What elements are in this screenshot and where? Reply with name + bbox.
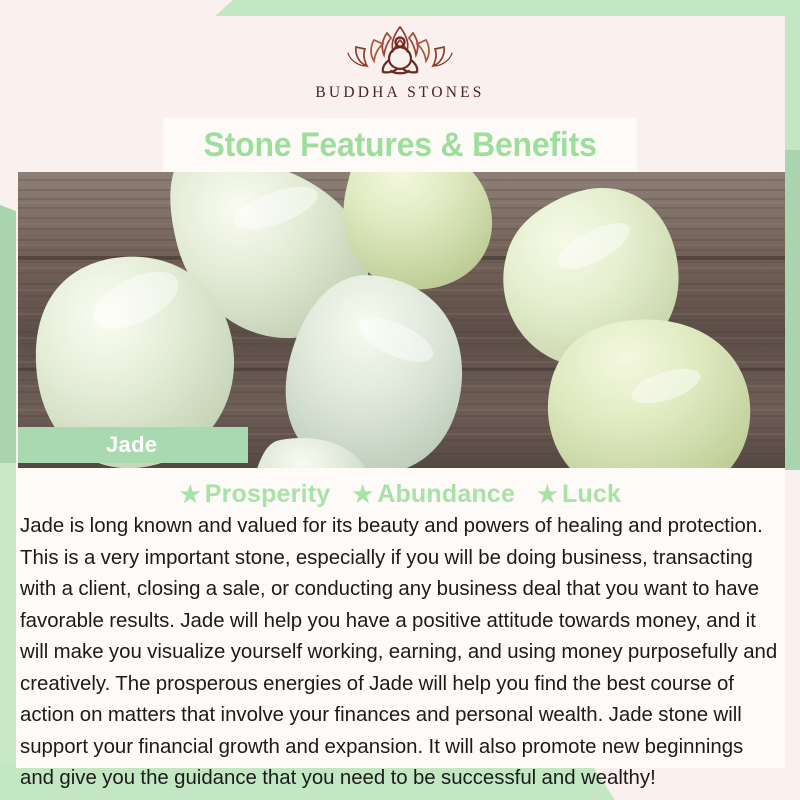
lotus-meditation-icon [341,22,459,80]
star-icon: ★ [537,481,558,507]
description-panel: ★Prosperity★Abundance★Luck Jade is long … [16,468,785,768]
star-icon: ★ [352,481,373,507]
jade-stones-photo [18,172,785,468]
description-text: Jade is long known and valued for its be… [16,509,785,795]
benefit-item: ★Luck [537,480,621,508]
decor-right-green-column-accent [785,150,800,470]
star-icon: ★ [180,481,201,507]
benefit-label: Abundance [377,480,515,508]
benefit-label: Prosperity [205,480,331,508]
decor-left-green-strip [0,463,16,773]
brand-wordmark: BUDDHA STONES [315,84,484,102]
infographic-card: BUDDHA STONES Stone Features & Benefits [0,0,800,800]
decor-left-green-column [0,205,16,463]
benefit-label: Luck [562,480,621,508]
benefits-list: ★Prosperity★Abundance★Luck [16,468,785,509]
benefit-item: ★Abundance [352,480,515,508]
title-banner: Stone Features & Benefits [163,118,637,172]
page-title: Stone Features & Benefits [203,126,596,165]
stone-name-chip: Jade [18,427,248,463]
stone-name-label: Jade [106,432,157,458]
brand-header: BUDDHA STONES [0,0,800,118]
benefit-item: ★Prosperity [180,480,331,508]
